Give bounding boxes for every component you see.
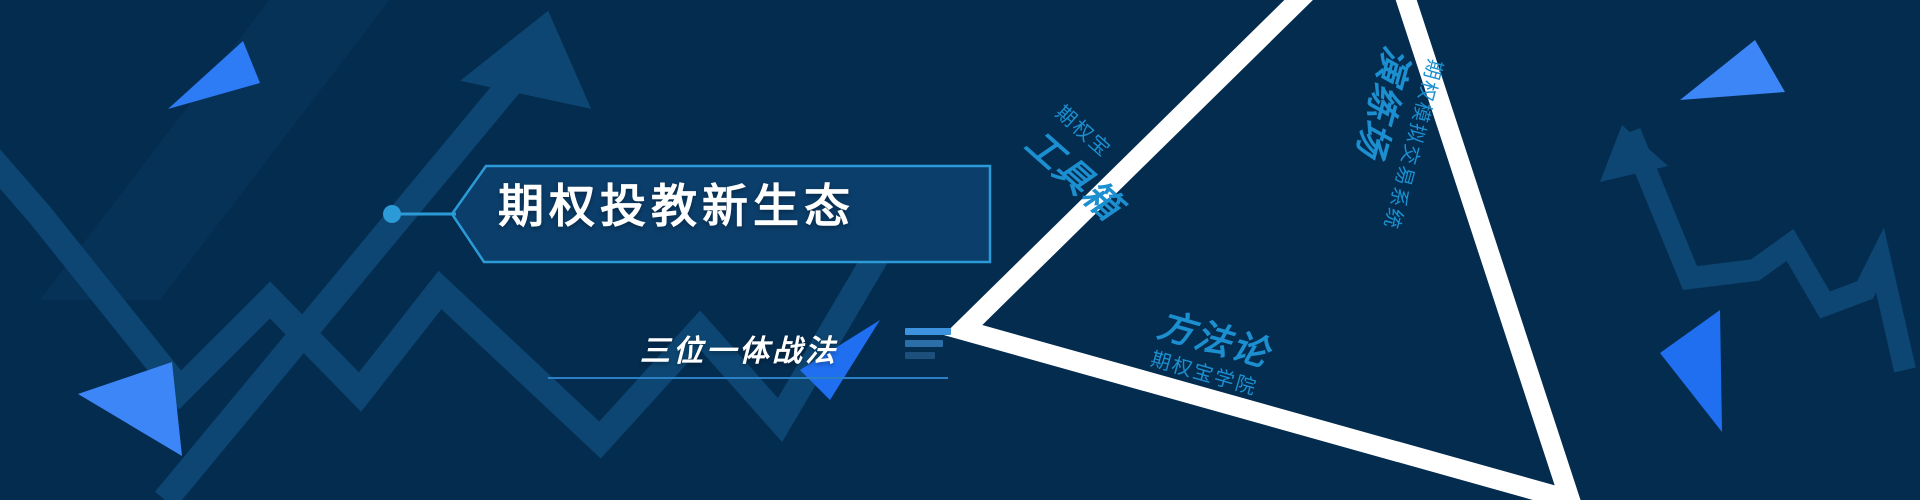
edge-label-toolbox: 期权宝 工具箱 <box>1016 96 1154 231</box>
bar-2 <box>905 340 943 347</box>
edge-label-arena: 期权模拟交易系统 演练场 <box>1330 42 1452 234</box>
three-bars-icon <box>905 328 951 364</box>
promo-banner: 期权投教新生态 三位一体战法 期权宝 工具箱 期权模拟交易系统 演练场 方法论 … <box>0 0 1920 500</box>
bar-3 <box>905 352 935 359</box>
subtitle: 三位一体战法 <box>640 326 838 370</box>
edge-label-methodology: 方法论 期权宝学院 <box>1146 296 1277 401</box>
title-group: 期权投教新生态 三位一体战法 期权宝 工具箱 期权模拟交易系统 演练场 方法论 … <box>0 0 1920 500</box>
page-title: 期权投教新生态 <box>498 170 855 236</box>
bar-1 <box>905 328 951 335</box>
